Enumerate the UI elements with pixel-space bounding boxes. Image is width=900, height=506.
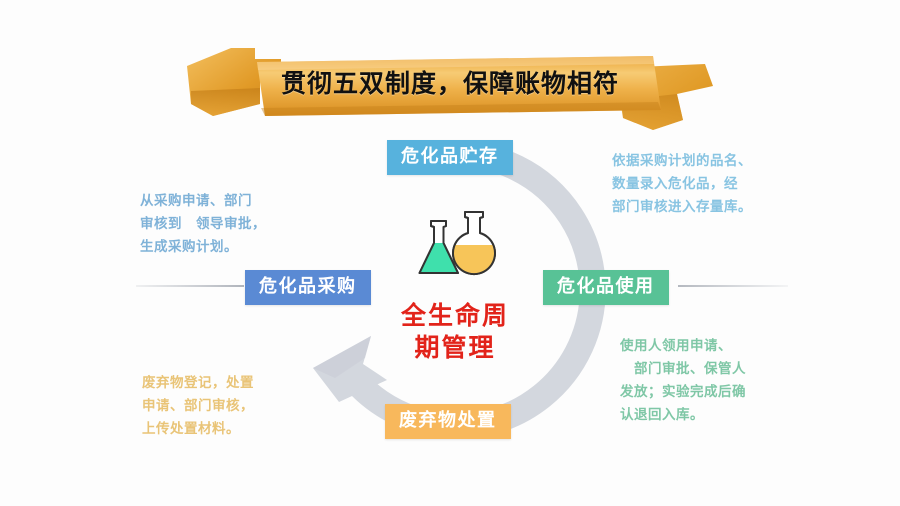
stage-description-storage: 依据采购计划的品名、 数量录入危化品，经 部门审核进入存量库。: [612, 150, 787, 219]
stage-description-usage: 使用人领用申请、 部门审批、保管人 发放；实验完成后确 认退回入库。: [620, 335, 798, 427]
desc-line: 上传处置材料。: [142, 418, 322, 441]
connector-line-left: [136, 285, 244, 287]
desc-line: 使用人领用申请、: [620, 335, 798, 358]
desc-line: 数量录入危化品，经: [612, 173, 787, 196]
center-title-line1: 全生命周: [375, 300, 535, 332]
lab-flasks-icon: [413, 203, 508, 283]
banner-ribbon: 贯彻五双制度，保障账物相符: [185, 42, 715, 137]
desc-line: 废弃物登记，处置: [142, 372, 322, 395]
desc-line: 从采购申请、部门: [140, 190, 310, 213]
center-title: 全生命周 期管理: [375, 300, 535, 364]
stage-label-storage[interactable]: 危化品贮存: [387, 140, 513, 175]
desc-line: 审核到 领导审批，: [140, 213, 310, 236]
stage-description-waste: 废弃物登记，处置 申请、部门审核， 上传处置材料。: [142, 372, 322, 441]
desc-line: 部门审核进入存量库。: [612, 196, 787, 219]
lifecycle-diagram: 贯彻五双制度，保障账物相符: [0, 0, 900, 506]
stage-description-purchase: 从采购申请、部门 审核到 领导审批， 生成采购计划。: [140, 190, 310, 259]
desc-line: 生成采购计划。: [140, 236, 310, 259]
desc-line: 依据采购计划的品名、: [612, 150, 787, 173]
stage-label-usage[interactable]: 危化品使用: [543, 270, 669, 305]
desc-line: 部门审批、保管人: [620, 358, 798, 381]
banner-title: 贯彻五双制度，保障账物相符: [280, 67, 620, 101]
center-title-line2: 期管理: [375, 332, 535, 364]
desc-line: 认退回入库。: [620, 404, 798, 427]
connector-line-right: [678, 285, 788, 287]
stage-label-waste[interactable]: 废弃物处置: [385, 404, 511, 439]
desc-line: 申请、部门审核，: [142, 395, 322, 418]
desc-line: 发放；实验完成后确: [620, 381, 798, 404]
stage-label-purchase[interactable]: 危化品采购: [245, 270, 371, 305]
